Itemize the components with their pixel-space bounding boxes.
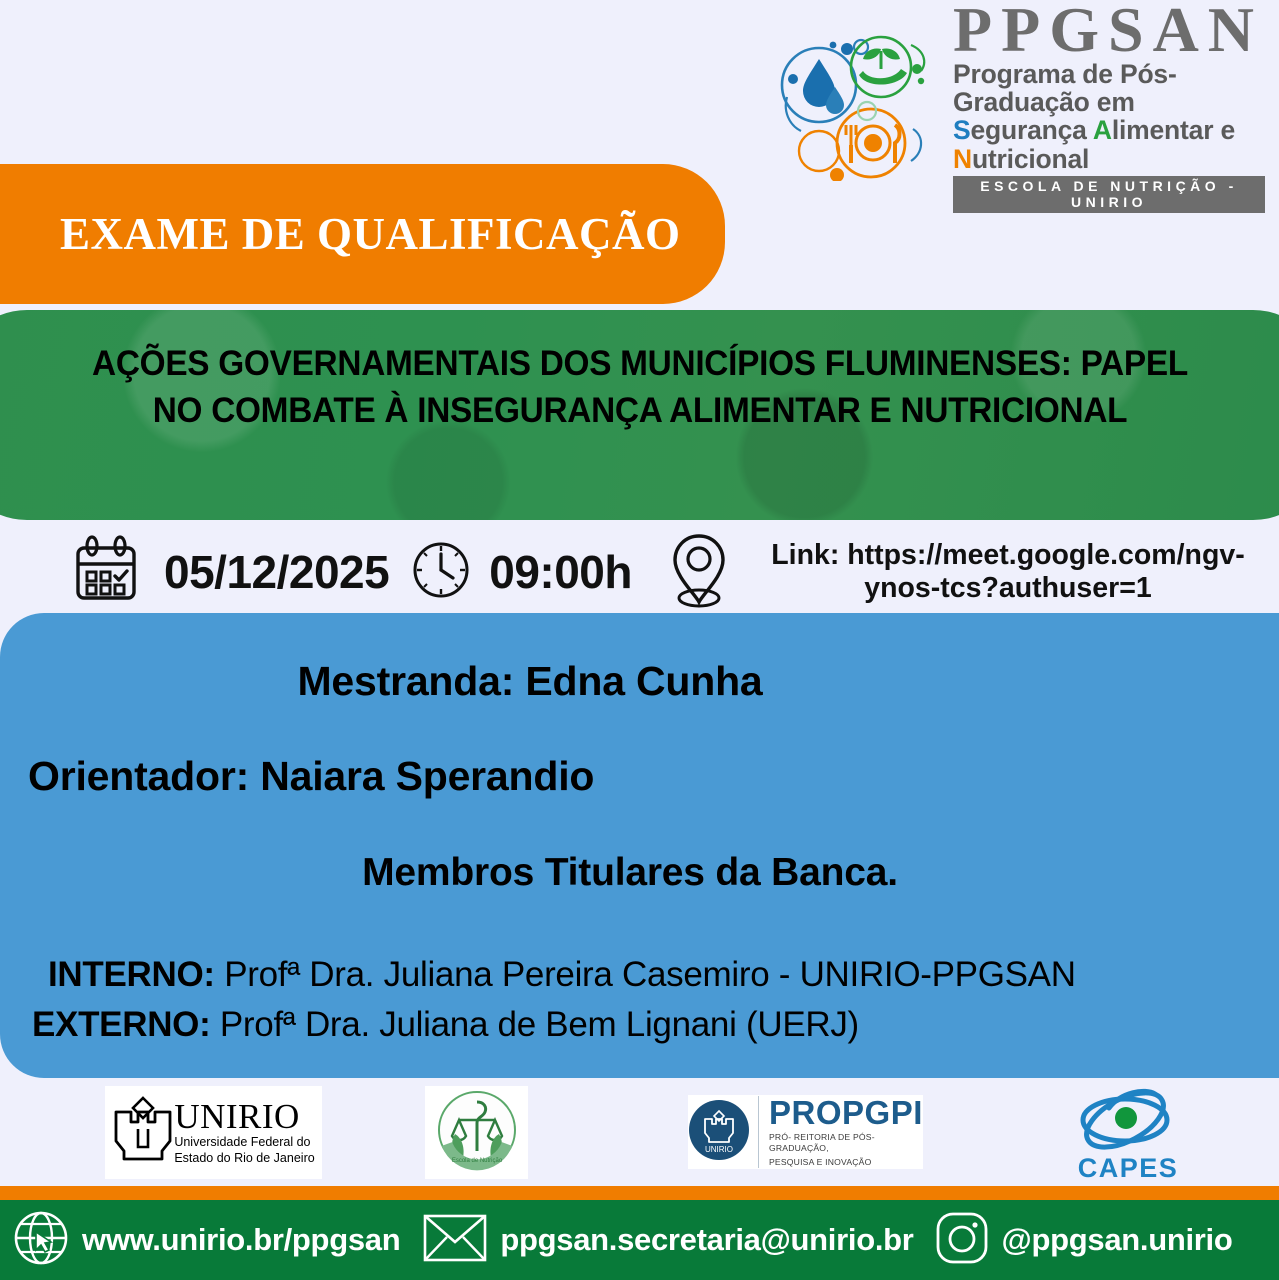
- ppgsan-egu: egurança: [970, 115, 1092, 145]
- escola-nutricao-logo: Escola de Nutrição: [425, 1086, 528, 1179]
- unirio-emblem-icon: [112, 1095, 174, 1170]
- propgpi-sub1: PRÓ- REITORIA DE PÓS-GRADUAÇÃO,: [769, 1132, 923, 1153]
- event-date: 05/12/2025: [70, 534, 389, 611]
- propgpi-unirio-seal-icon: UNIRIO: [688, 1099, 750, 1166]
- clock-icon: [409, 538, 473, 607]
- poster-canvas: PPGSAN Programa de Pós-Graduação em Segu…: [0, 0, 1279, 1280]
- ppgsan-n: N: [953, 144, 972, 174]
- footer-email-text: ppgsan.secretaria@unirio.br: [500, 1222, 913, 1258]
- sponsor-logo-strip: UNIRIO Universidade Federal do Estado do…: [0, 1085, 1279, 1185]
- propgpi-name: PROPGPI: [769, 1096, 923, 1129]
- advisor-line: Orientador: Naiara Sperandio: [28, 753, 594, 800]
- thesis-title-line1: AÇÕES GOVERNAMENTAIS DOS MUNICÍPIOS FLUM…: [53, 340, 1228, 387]
- thesis-title-block: AÇÕES GOVERNAMENTAIS DOS MUNICÍPIOS FLUM…: [0, 310, 1279, 520]
- unirio-sub1: Universidade Federal do: [174, 1135, 314, 1150]
- student-line: Mestranda: Edna Cunha: [0, 658, 1060, 705]
- unirio-wordmark: UNIRIO Universidade Federal do Estado do…: [174, 1099, 314, 1166]
- committee-member-external-name: Profª Dra. Juliana de Bem Lignani (UERJ): [220, 1005, 859, 1044]
- propgpi-logo: UNIRIO PROPGPI PRÓ- REITORIA DE PÓS-GRAD…: [688, 1095, 923, 1169]
- ppgsan-subtitle-line1: Programa de Pós-Graduação em: [953, 60, 1265, 116]
- committee-member-internal-name: Profª Dra. Juliana Pereira Casemiro - UN…: [224, 955, 1076, 994]
- ppgsan-a: A: [1093, 115, 1112, 145]
- thesis-title-line2: NO COMBATE À INSEGURANÇA ALIMENTAR E NUT…: [53, 387, 1228, 434]
- committee-member-external: EXTERNO: Profª Dra. Juliana de Bem Ligna…: [32, 1005, 859, 1045]
- committee-member-external-role: EXTERNO:: [32, 1005, 210, 1044]
- capes-name: CAPES: [1078, 1153, 1179, 1184]
- event-time: 09:00h: [409, 538, 632, 607]
- escola-nutricao-seal-icon: Escola de Nutrição: [435, 1088, 519, 1177]
- event-type-label: EXAME DE QUALIFICAÇÃO: [60, 208, 681, 260]
- event-link: Link: https://meet.google.com/ngv-ynos-t…: [664, 530, 1268, 615]
- envelope-icon: [422, 1212, 488, 1269]
- committee-member-internal: INTERNO: Profª Dra. Juliana Pereira Case…: [48, 955, 1076, 995]
- contact-footer: www.unirio.br/ppgsan ppgsan.secretaria@u…: [0, 1200, 1279, 1280]
- footer-email[interactable]: ppgsan.secretaria@unirio.br: [422, 1212, 913, 1269]
- event-link-value[interactable]: Link: https://meet.google.com/ngv-ynos-t…: [748, 539, 1268, 605]
- thesis-title: AÇÕES GOVERNAMENTAIS DOS MUNICÍPIOS FLUM…: [53, 340, 1228, 434]
- footer-orange-divider: [0, 1186, 1279, 1200]
- event-date-value: 05/12/2025: [164, 545, 389, 599]
- unirio-logo: UNIRIO Universidade Federal do Estado do…: [105, 1086, 322, 1179]
- ppgsan-limentar: limentar e: [1112, 115, 1235, 145]
- escola-seal-caption: Escola de Nutrição: [451, 1158, 502, 1164]
- committee-heading: Membros Titulares da Banca.: [0, 851, 1260, 895]
- ppgsan-wordmark: PPGSAN Programa de Pós-Graduação em Segu…: [953, 1, 1265, 212]
- footer-website-text: www.unirio.br/ppgsan: [82, 1222, 400, 1258]
- ppgsan-logo: PPGSAN Programa de Pós-Graduação em Segu…: [775, 32, 1265, 182]
- capes-emblem-icon: [1069, 1086, 1187, 1157]
- ppgsan-school-bar: ESCOLA DE NUTRIÇÃO - UNIRIO: [953, 176, 1265, 213]
- unirio-name: UNIRIO: [174, 1099, 314, 1134]
- unirio-sub2: Estado do Rio de Janeiro: [174, 1151, 314, 1166]
- footer-instagram-text: @ppgsan.unirio: [1002, 1222, 1233, 1258]
- event-info-row: 05/12/2025 09:00h: [0, 527, 1279, 617]
- propgpi-circle-label: UNIRIO: [705, 1145, 733, 1154]
- ppgsan-subtitle-line2: Segurança Alimentar e Nutricional: [953, 116, 1265, 172]
- propgpi-sub2: PESQUISA E INOVAÇÃO: [769, 1157, 923, 1168]
- globe-icon: [12, 1209, 70, 1272]
- capes-logo: CAPES: [1063, 1087, 1193, 1183]
- committee-member-internal-role: INTERNO:: [48, 955, 215, 994]
- ppgsan-emblem-icon: [775, 33, 943, 181]
- location-pin-icon: [664, 530, 734, 615]
- ppgsan-acronym: PPGSAN: [953, 1, 1265, 60]
- instagram-icon: [934, 1210, 990, 1271]
- footer-website[interactable]: www.unirio.br/ppgsan: [12, 1209, 400, 1272]
- event-type-banner: EXAME DE QUALIFICAÇÃO: [0, 164, 725, 304]
- ppgsan-utricional: utricional: [972, 144, 1089, 174]
- event-time-value: 09:00h: [489, 545, 632, 599]
- footer-instagram[interactable]: @ppgsan.unirio: [934, 1210, 1233, 1271]
- calendar-icon: [70, 534, 142, 611]
- ppgsan-s: S: [953, 115, 970, 145]
- details-panel: Mestranda: Edna Cunha Orientador: Naiara…: [0, 613, 1279, 1078]
